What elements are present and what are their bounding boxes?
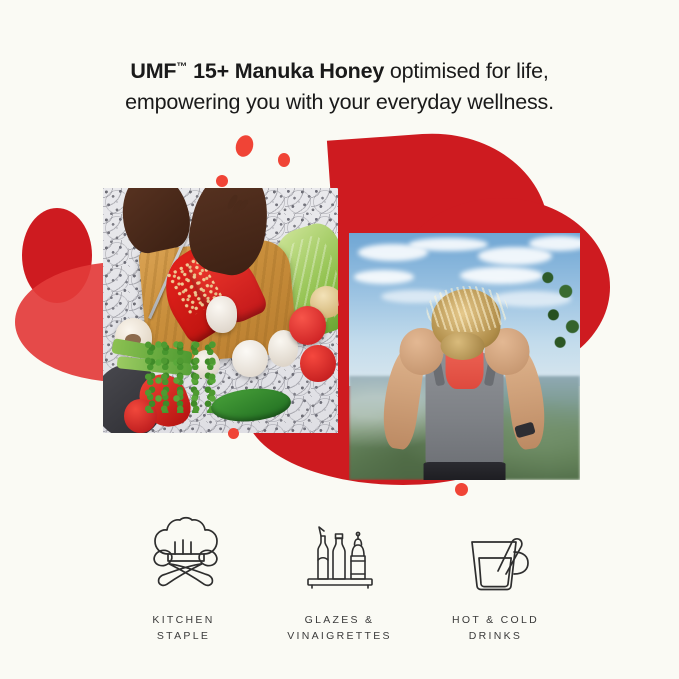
- feature-list: KITCHEN STAPLE: [0, 516, 679, 666]
- tomato-2: [300, 345, 335, 382]
- cloud: [409, 238, 488, 252]
- headline-brand: UMF: [130, 59, 176, 83]
- hair-bun: [441, 332, 485, 360]
- red-dot-4-shape: [228, 428, 239, 439]
- cloud: [354, 270, 414, 284]
- feature-label-line-1: KITCHEN: [152, 612, 214, 628]
- feature-label: KITCHEN STAPLE: [152, 612, 214, 644]
- feature-label-line-1: GLAZES &: [287, 612, 392, 628]
- feature-glazes-vinaigrettes: GLAZES & VINAIGRETTES: [262, 516, 418, 644]
- feature-hot-cold-drinks: HOT & COLD DRINKS: [418, 516, 574, 644]
- cooking-vegetables-photo: [103, 188, 338, 433]
- red-dot-5-shape: [455, 483, 468, 496]
- red-dot-3-shape: [216, 175, 228, 187]
- feature-kitchen-staple: KITCHEN STAPLE: [106, 516, 262, 644]
- headline-line-2: empowering you with your everyday wellne…: [0, 87, 679, 118]
- feature-label-line-2: STAPLE: [152, 628, 214, 644]
- headline-tail: optimised for life,: [384, 59, 548, 83]
- oil-vinegar-bottles-pepper-grinder-icon: [294, 516, 386, 600]
- garlic-bulb-1: [206, 296, 237, 333]
- headline-line-1: UMF™ 15+ Manuka Honey optimised for life…: [0, 52, 679, 87]
- image-collage: [0, 120, 679, 510]
- feature-label-line-2: VINAIGRETTES: [287, 628, 392, 644]
- feature-label: HOT & COLD DRINKS: [452, 612, 539, 644]
- red-dot-1-shape: [233, 133, 256, 159]
- red-dot-2-shape: [278, 153, 290, 167]
- mug-with-spoon-icon: [450, 516, 542, 600]
- chef-hat-crossed-spoons-icon: [138, 516, 230, 600]
- feature-label-line-1: HOT & COLD: [452, 612, 539, 628]
- feature-label-line-2: DRINKS: [452, 628, 539, 644]
- promo-banner: UMF™ 15+ Manuka Honey optimised for life…: [0, 0, 679, 679]
- page-title: UMF™ 15+ Manuka Honey optimised for life…: [0, 52, 679, 118]
- garlic-bulb-2: [232, 340, 267, 377]
- trademark-symbol: ™: [176, 61, 187, 73]
- woman-hilltop-photo: [349, 233, 580, 480]
- shorts: [423, 462, 505, 480]
- tomato-1: [289, 306, 327, 345]
- parsley-herbs: [145, 340, 216, 414]
- woman-figure: [379, 307, 550, 480]
- headline-grade: 15+ Manuka Honey: [187, 59, 384, 83]
- feature-label: GLAZES & VINAIGRETTES: [287, 612, 392, 644]
